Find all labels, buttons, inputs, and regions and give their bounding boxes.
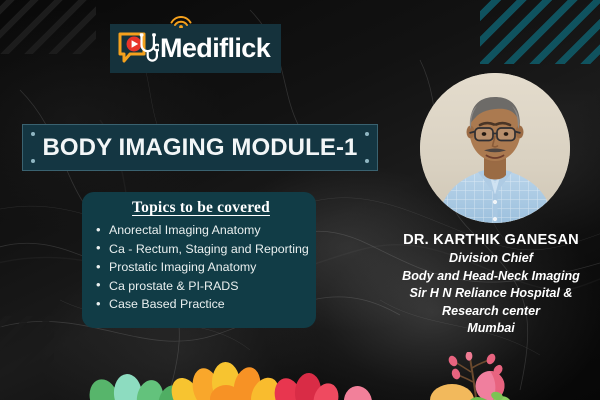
speaker-detail-line: Division Chief (382, 250, 600, 268)
brand-logo[interactable]: Mediflick (110, 24, 281, 73)
list-item: Case Based Practice (96, 295, 306, 314)
speaker-detail-line: Research center (382, 303, 600, 321)
video-stethoscope-icon (117, 30, 159, 68)
module-title-banner: BODY IMAGING MODULE-1 (22, 124, 378, 171)
page-title: BODY IMAGING MODULE-1 (42, 134, 357, 162)
speaker-portrait (420, 73, 570, 223)
wifi-signal-icon (168, 12, 194, 28)
webinar-poster: Mediflick BODY IMAGING MODULE-1 Topics t… (0, 0, 600, 400)
brand-wordmark: Mediflick (160, 35, 270, 62)
speaker-detail-line: Mumbai (382, 320, 600, 338)
topics-list: Anorectal Imaging Anatomy Ca - Rectum, S… (96, 221, 306, 314)
speaker-detail-line: Sir H N Reliance Hospital & (382, 285, 600, 303)
speaker-detail-line: Body and Head-Neck Imaging (382, 268, 600, 286)
banner-corner-dot (31, 159, 35, 163)
topics-heading: Topics to be covered (96, 199, 306, 217)
list-item: Ca - Rectum, Staging and Reporting (96, 240, 306, 259)
speaker-info: DR. KARTHIK GANESAN Division Chief Body … (382, 230, 600, 338)
list-item: Ca prostate & PI-RADS (96, 277, 306, 296)
banner-corner-dot (31, 132, 35, 136)
banner-corner-dot (365, 132, 369, 136)
list-item: Anorectal Imaging Anatomy (96, 221, 306, 240)
topics-panel: Topics to be covered Anorectal Imaging A… (82, 192, 316, 328)
list-item: Prostatic Imaging Anatomy (96, 258, 306, 277)
speaker-name: DR. KARTHIK GANESAN (382, 230, 600, 250)
banner-corner-dot (365, 159, 369, 163)
